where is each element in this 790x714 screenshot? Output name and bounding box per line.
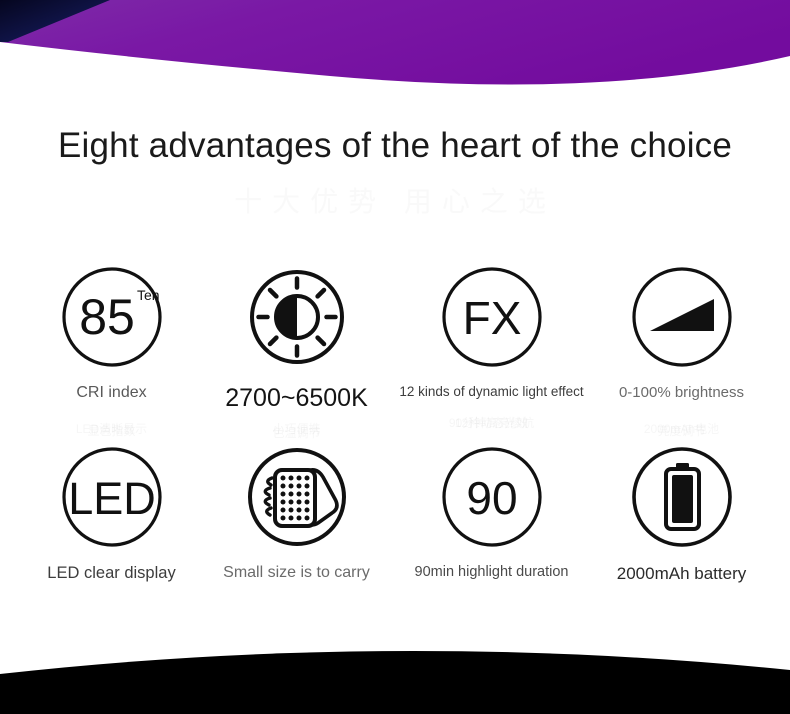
fx-effects-circle-icon: FX (393, 252, 590, 382)
cri-value: 85 (79, 289, 135, 345)
feature-label-portable: Small size is to carry (223, 564, 370, 582)
feature-label-fx: 12 kinds of dynamic light effect (399, 384, 583, 399)
sun-brightness-icon (198, 252, 395, 382)
feature-item-battery[interactable]: 2000mAh battery (583, 432, 780, 584)
infographic-page: Eight advantages of the heart of the cho… (0, 0, 790, 714)
feature-ghost-portable: 小巧便携 (198, 420, 395, 437)
led-display-circle-icon: LED (13, 432, 210, 562)
hand-holding-panel-icon (198, 432, 395, 562)
feature-item-duration[interactable]: 90 90min highlight duration (393, 432, 590, 581)
feature-item-portable[interactable]: Small size is to carry (198, 432, 395, 582)
bottom-black-arc (0, 618, 790, 714)
feature-ghost-duration: 90分钟高亮续航 (393, 414, 590, 431)
footer-arc-shape (0, 651, 790, 714)
feature-item-fx[interactable]: FX 12 kinds of dynamic light effect (393, 252, 590, 401)
feature-label-led: LED clear display (47, 564, 175, 583)
cri-superscript: Ten (137, 287, 160, 303)
feature-item-color-temp[interactable]: 2700~6500K (198, 252, 395, 413)
led-value: LED (68, 473, 156, 524)
feature-grid: 85 Ten CRI index 显色指数 (0, 252, 790, 612)
feature-label-brightness: 0-100% brightness (619, 384, 744, 401)
page-title-ghost: 十大优势 用心之选 (0, 180, 790, 220)
battery-full-circle-icon (583, 432, 780, 562)
duration-value: 90 (466, 472, 517, 524)
banner-purple-shape (0, 0, 790, 84)
feature-label-color-temp: 2700~6500K (225, 384, 368, 413)
brightness-ramp-icon (583, 252, 780, 382)
cri-85-circle-icon: 85 Ten (13, 252, 210, 382)
feature-label-battery: 2000mAh battery (617, 564, 746, 584)
feature-ghost-battery: 2000mAh电池 (583, 420, 780, 437)
feature-ghost-led: LED清晰显示 (13, 420, 210, 437)
top-purple-banner (0, 0, 790, 120)
feature-label-duration: 90min highlight duration (415, 564, 569, 580)
feature-item-led[interactable]: LED LED clear display (13, 432, 210, 583)
duration-90-circle-icon: 90 (393, 432, 590, 562)
feature-item-brightness[interactable]: 0-100% brightness (583, 252, 780, 402)
page-title: Eight advantages of the heart of the cho… (0, 126, 790, 166)
feature-item-cri[interactable]: 85 Ten CRI index (13, 252, 210, 402)
fx-value: FX (462, 292, 521, 344)
feature-label-cri: CRI index (76, 384, 146, 402)
